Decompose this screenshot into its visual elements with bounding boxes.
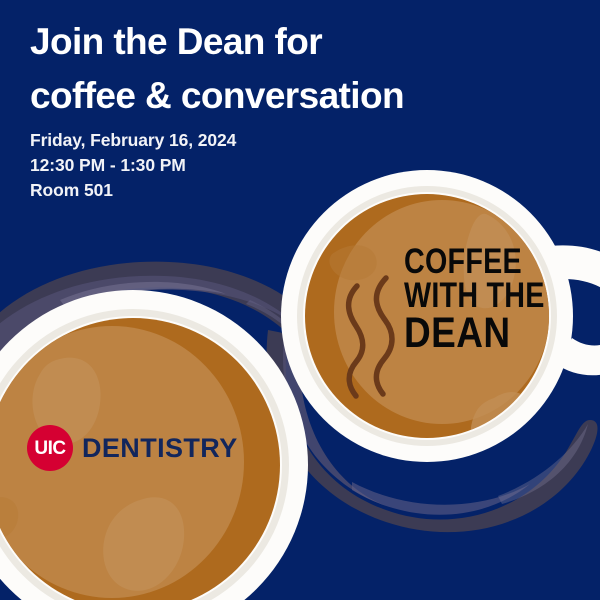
coffee-cups-artwork — [0, 0, 600, 600]
poster-canvas: Join the Dean for coffee & conversation … — [0, 0, 600, 600]
